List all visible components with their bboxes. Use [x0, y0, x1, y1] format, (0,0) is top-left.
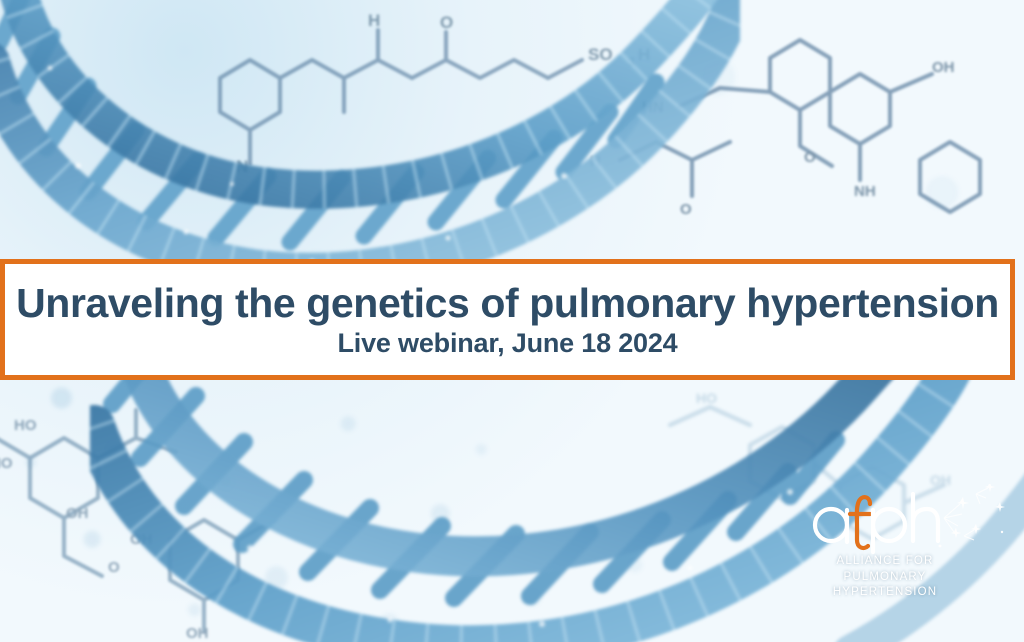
title-banner: Unraveling the genetics of pulmonary hyp… [0, 259, 1015, 380]
event-subtitle: Live webinar, June 18 2024 [338, 329, 678, 357]
page-title: Unraveling the genetics of pulmonary hyp… [16, 282, 999, 325]
webinar-promo-banner: N H O SO 3 H HN [0, 0, 1024, 642]
